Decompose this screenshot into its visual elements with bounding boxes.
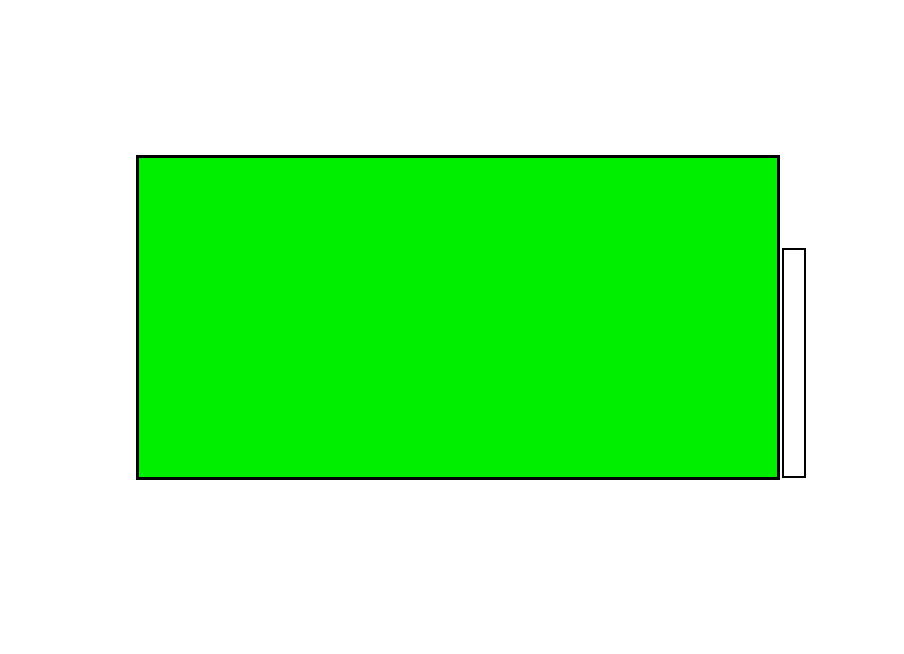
- colorbar: [779, 203, 899, 523]
- figure-zonal-velocity: [0, 0, 904, 654]
- zonal-velocity-field: [139, 158, 777, 477]
- colorbar-bands: [782, 248, 806, 478]
- colorbar-under-cap-icon: [782, 203, 806, 250]
- contour-plot-area: [136, 155, 780, 480]
